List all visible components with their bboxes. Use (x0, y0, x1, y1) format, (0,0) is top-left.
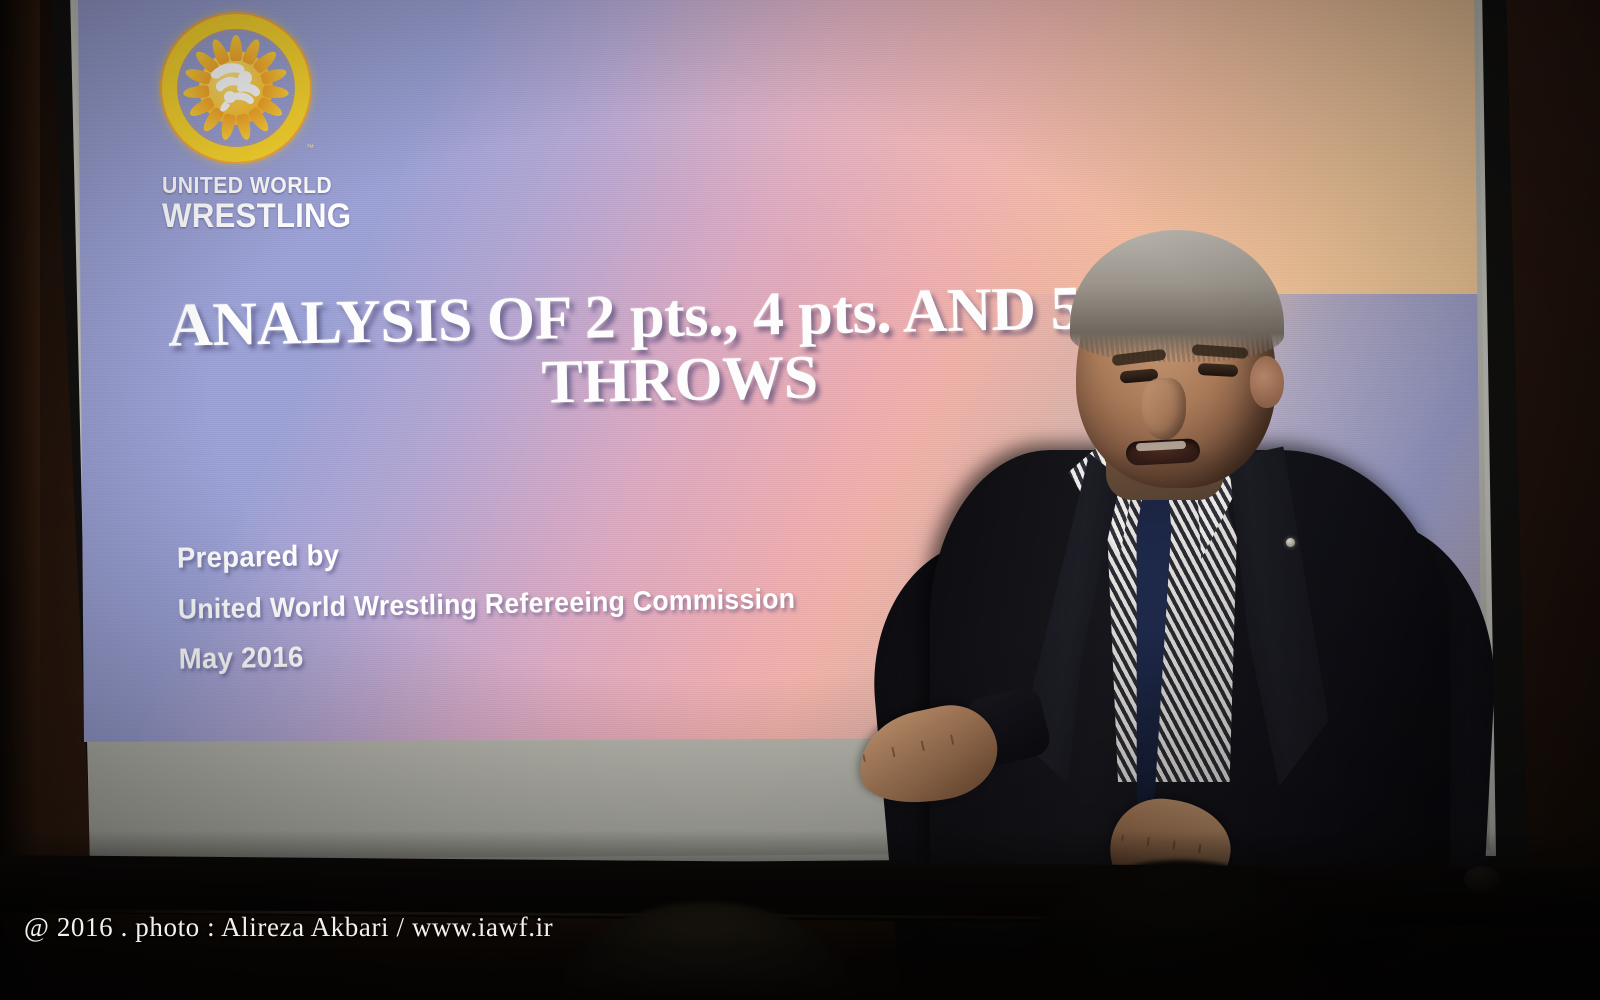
screenshot-root: ™ UNITED WORLD WRESTLING ANALYSIS OF 2 p… (0, 0, 1600, 1000)
photo-credit-watermark: @ 2016 . photo : Alireza Akbari / www.ia… (24, 912, 553, 943)
photo-vignette (0, 0, 1600, 1000)
